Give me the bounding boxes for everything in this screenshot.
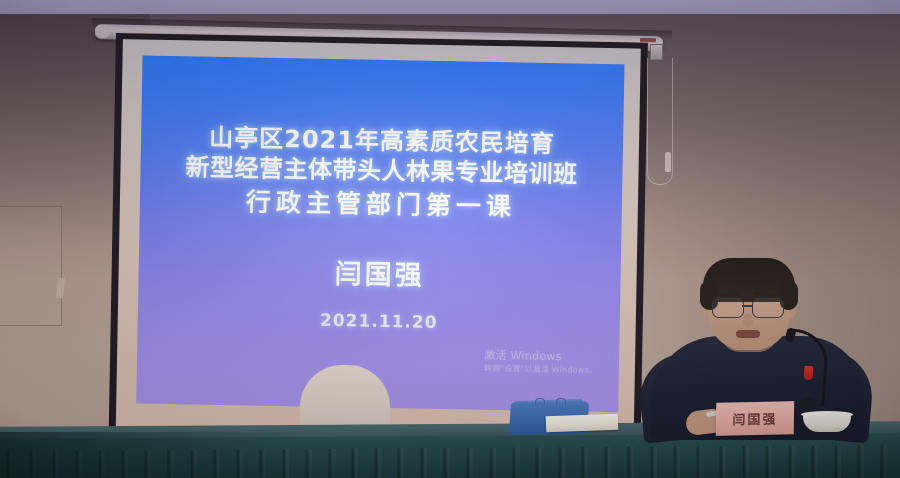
presentation-slide: 山亭区2021年高素质农民培育 新型经营主体带头人林果专业培训班 行政主管部门第…: [136, 55, 624, 412]
slide-speaker-name: 闫国强: [138, 248, 621, 296]
slide-date: 2021.11.20: [138, 307, 620, 336]
photo-scene: 山亭区2021年高素质农民培育 新型经营主体带头人林果专业培训班 行政主管部门第…: [0, 0, 900, 478]
glasses-bridge: [742, 305, 752, 307]
watermark-line2: 转到"设置"以激活 Windows。: [484, 363, 614, 376]
slide-title: 山亭区2021年高素质农民培育 新型经营主体带头人林果专业培训班 行政主管部门第…: [140, 121, 624, 227]
roller-label: [640, 38, 656, 42]
windows-activation-watermark: 激活 Windows 转到"设置"以激活 Windows。: [484, 349, 614, 376]
nose: [743, 314, 753, 328]
glasses-lens-right: [752, 298, 784, 318]
white-bowl: [803, 414, 851, 432]
table-left-shadow: [0, 432, 300, 478]
glasses-lens-left: [712, 298, 744, 318]
bag-handle-right: [556, 398, 566, 405]
roller-end-cap: [96, 25, 110, 38]
white-booklet: [546, 414, 619, 433]
pull-cord-weight[interactable]: [665, 152, 671, 172]
bag-handle-left: [535, 398, 545, 405]
wall-panel-outline: [0, 206, 62, 326]
desk-nameplate: 闫国强: [716, 401, 794, 436]
mouth: [736, 330, 760, 338]
nameplate-text: 闫国强: [716, 408, 794, 429]
microphone-base: [800, 398, 816, 407]
